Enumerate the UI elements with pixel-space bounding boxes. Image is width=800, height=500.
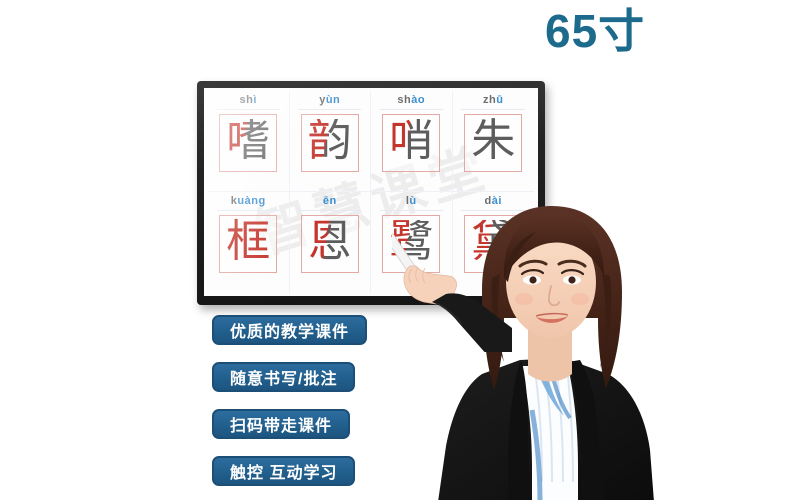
character-box[interactable]: 朱 [464, 114, 522, 172]
pinyin-consonant: sh [240, 94, 254, 106]
pinyin-underline [217, 109, 280, 110]
hanzi-glyph: 恩 [308, 220, 352, 264]
character-box[interactable]: 鹭 [382, 215, 440, 273]
pinyin-label: zhū [483, 95, 503, 106]
character-cell[interactable]: ēn 恩 [290, 192, 372, 293]
pinyin-underline [298, 210, 361, 211]
pinyin-label: shào [397, 95, 425, 106]
pinyin-label: ēn [323, 196, 337, 207]
hanzi-glyph: 嗜 [226, 119, 270, 163]
pinyin-underline [298, 109, 361, 110]
pinyin-consonant: sh [397, 94, 411, 106]
character-cell[interactable]: zhū 朱 [453, 91, 535, 192]
blazer [438, 358, 654, 500]
hanzi-glyph: 哨 [389, 119, 433, 163]
feature-button-list: 优质的教学课件 随意书写/批注 扫码带走课件 触控 互动学习 [212, 315, 367, 486]
pinyin-vowel: ài [492, 195, 502, 207]
pinyin-underline [380, 210, 443, 211]
pinyin-vowel: uàng [237, 195, 265, 207]
neck [528, 324, 572, 382]
pinyin-underline [380, 109, 443, 110]
pinyin-vowel: ùn [326, 94, 340, 106]
hanzi-glyph: 黛 [471, 220, 515, 264]
eye-right [568, 276, 575, 283]
pinyin-consonant: d [485, 195, 492, 207]
character-cell[interactable]: yùn 韵 [290, 91, 372, 192]
pinyin-vowel: ù [409, 195, 416, 207]
feature-button-annotation[interactable]: 随意书写/批注 [212, 362, 355, 392]
character-box[interactable]: 嗜 [219, 114, 277, 172]
character-box[interactable]: 框 [219, 215, 277, 273]
hanzi-glyph: 韵 [308, 119, 352, 163]
pinyin-vowel: ì [253, 94, 257, 106]
hanzi-glyph: 框 [226, 220, 270, 264]
pinyin-label: shì [240, 95, 257, 106]
feature-button-courseware[interactable]: 优质的教学课件 [212, 315, 367, 345]
pinyin-label: lù [406, 196, 417, 207]
hanzi-glyph: 朱 [471, 119, 515, 163]
display-screen[interactable]: 智慧课堂 shì 嗜 yùn 韵 shào 哨 [204, 88, 538, 296]
pinyin-label: dài [485, 196, 502, 207]
character-cell[interactable]: shì 嗜 [208, 91, 290, 192]
pinyin-underline [461, 109, 525, 110]
character-cell[interactable]: lù 鹭 [371, 192, 453, 293]
blue-scarf [536, 366, 564, 416]
pinyin-vowel: ū [496, 94, 503, 106]
product-promo-image: 65寸 智慧课堂 shì 嗜 yùn 韵 shào 哨 [0, 0, 800, 500]
character-box[interactable]: 黛 [464, 215, 522, 273]
character-box[interactable]: 恩 [301, 215, 359, 273]
character-cell[interactable]: kuàng 框 [208, 192, 290, 293]
feature-button-touch[interactable]: 触控 互动学习 [212, 456, 355, 486]
mouth [536, 316, 568, 323]
pinyin-underline [217, 210, 280, 211]
interactive-flat-panel[interactable]: 智慧课堂 shì 嗜 yùn 韵 shào 哨 [197, 81, 545, 305]
feature-button-qrcode[interactable]: 扫码带走课件 [212, 409, 350, 439]
character-cell[interactable]: shào 哨 [371, 91, 453, 192]
pinyin-label: yùn [319, 95, 340, 106]
character-box[interactable]: 哨 [382, 114, 440, 172]
character-cell[interactable]: dài 黛 [453, 192, 535, 293]
pinyin-vowel: ào [411, 94, 425, 106]
pinyin-vowel: ēn [323, 195, 337, 207]
screen-size-badge: 65寸 [545, 8, 645, 54]
character-box[interactable]: 韵 [301, 114, 359, 172]
blouse [522, 366, 578, 500]
pinyin-consonant: y [319, 94, 326, 106]
hanzi-glyph: 鹭 [389, 220, 433, 264]
pinyin-consonant: zh [483, 94, 496, 106]
character-grid: shì 嗜 yùn 韵 shào 哨 zhū 朱 [204, 88, 538, 296]
pinyin-underline [461, 210, 525, 211]
pinyin-label: kuàng [231, 196, 266, 207]
